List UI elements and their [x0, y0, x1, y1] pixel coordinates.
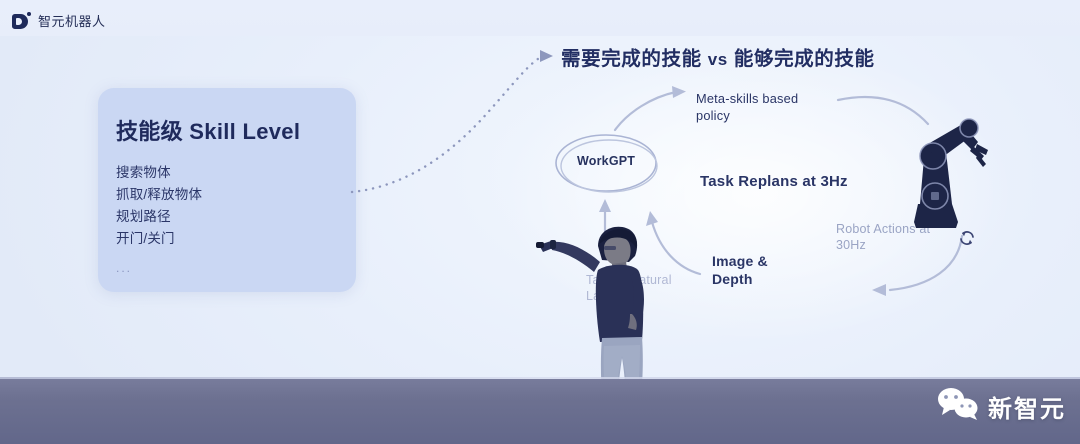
headline-right: 能够完成的技能 — [734, 48, 875, 70]
label-image-depth-line2: Depth — [712, 270, 768, 288]
stage-floor — [0, 379, 1080, 444]
headline-left: 需要完成的技能 — [561, 48, 702, 70]
list-item: 开门/关门 — [116, 228, 356, 250]
refresh-loop-icon — [957, 228, 977, 248]
watermark: 新智元 — [936, 387, 1066, 426]
list-item-more: ... — [116, 250, 356, 279]
skill-card-list: 搜索物体 抓取/释放物体 规划路径 开门/关门 ... — [116, 162, 356, 279]
skill-level-card: 技能级 Skill Level 搜索物体 抓取/释放物体 规划路径 开门/关门 … — [98, 88, 356, 292]
headline-vs: vs — [708, 50, 728, 69]
label-meta-skills-line1: Meta-skills based — [696, 90, 798, 107]
label-image-depth: Image & Depth — [712, 252, 768, 288]
brand-logo: 智元机器人 — [12, 11, 106, 30]
robot-arm-icon — [888, 104, 996, 232]
page-title: 需要完成的技能 vs 能够完成的技能 — [561, 42, 875, 71]
screen-top-strip — [0, 0, 1080, 36]
wechat-icon — [936, 387, 980, 426]
presentation-scene: 智元机器人 技能级 Skill Level 搜索物体 抓取/释放物体 规划路径 … — [0, 0, 1080, 444]
agibot-d-mark-icon — [12, 12, 31, 29]
brand-name: 智元机器人 — [38, 11, 106, 30]
label-meta-skills-policy: Meta-skills based policy — [696, 90, 798, 124]
node-label-workgpt: WorkGPT — [577, 154, 635, 168]
watermark-text: 新智元 — [988, 389, 1066, 424]
label-meta-skills-line2: policy — [696, 107, 798, 124]
label-task-replans: Task Replans at 3Hz — [700, 173, 848, 190]
skill-card-title: 技能级 Skill Level — [116, 114, 356, 146]
label-robot-actions-line2: 30Hz — [836, 237, 930, 253]
list-item: 规划路径 — [116, 206, 356, 228]
list-item: 抓取/释放物体 — [116, 184, 356, 206]
label-image-depth-line1: Image & — [712, 252, 768, 270]
list-item: 搜索物体 — [116, 162, 356, 184]
